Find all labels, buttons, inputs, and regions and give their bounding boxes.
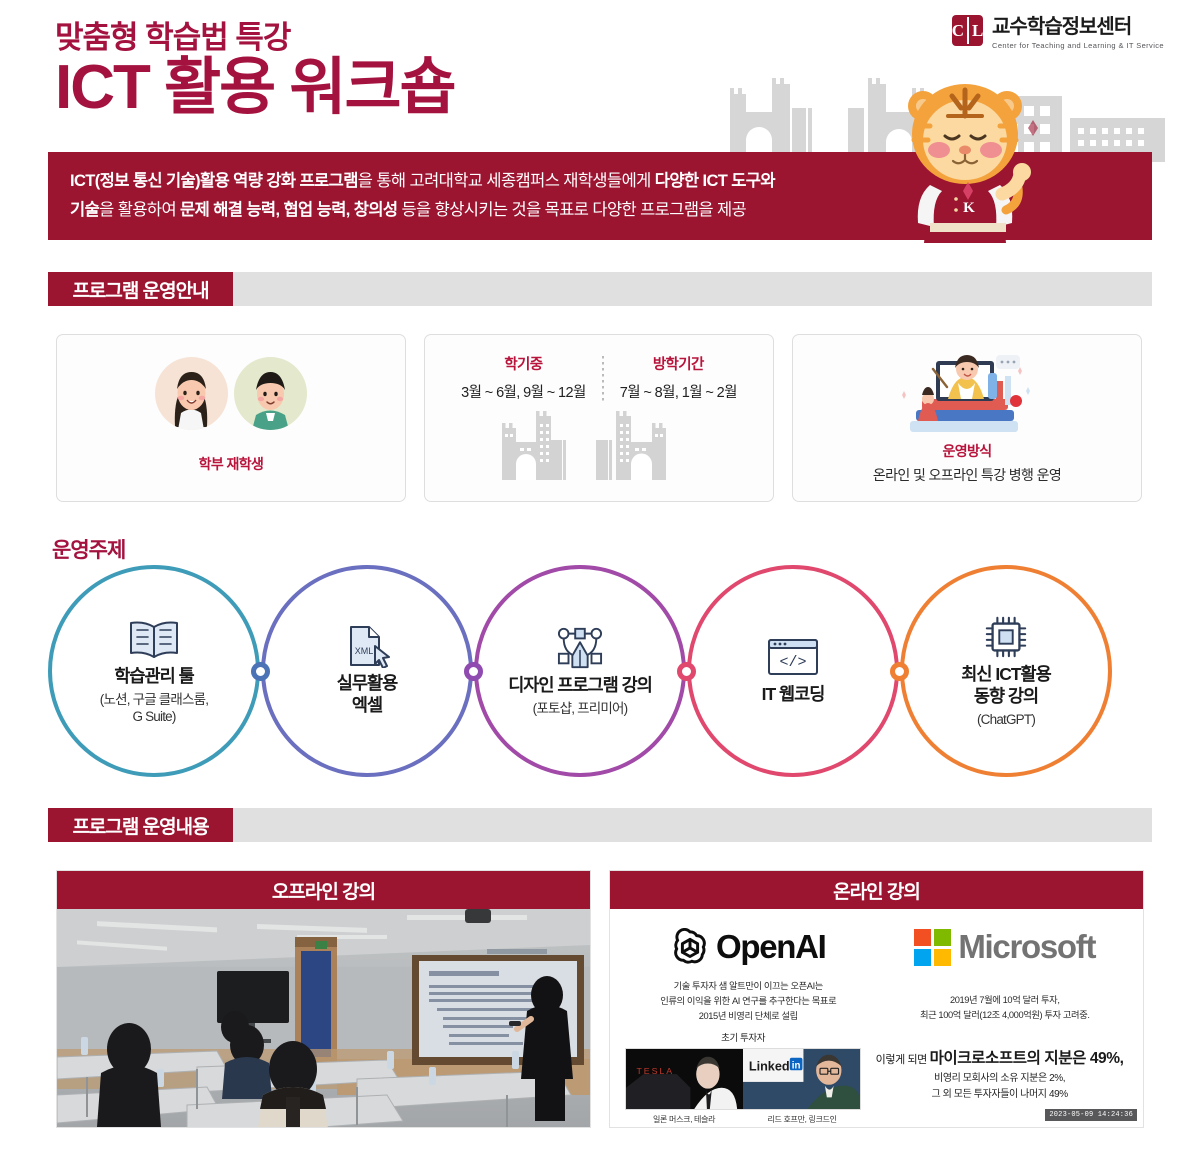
svg-text:</>: </>: [779, 654, 806, 671]
term-vacation: 방학기간 7월 ~ 8월, 1월 ~ 2월: [604, 353, 753, 402]
logo-letter-l: L: [972, 22, 983, 39]
svg-text:in: in: [792, 1060, 801, 1071]
investor-heading: 초기 투자자: [625, 1030, 861, 1044]
card-target-caption: 학부 재학생: [57, 454, 405, 474]
panel-online-header: 온라인 강의: [610, 871, 1143, 909]
panel-offline-header: 오프라인 강의: [57, 871, 590, 909]
banner-text-3: 등을 향상시키는 것을 목표로 다양한 프로그램을 제공: [397, 201, 746, 219]
topic-title-3: 디자인 프로그램 강의: [508, 675, 652, 697]
topic-title-4: IT 웹코딩: [762, 684, 825, 706]
investor-captions: 일론 머스크, 테슬라 리드 호프만, 링크드인: [625, 1114, 861, 1125]
logo-text: 교수학습정보센터 Center for Teaching and Learnin…: [992, 10, 1164, 50]
openai-block: OpenAI 기술 투자자 샘 알트만이 이끄는 오픈AI는 인류의 이익을 위…: [625, 923, 871, 1024]
topic-sub-1: (노션, 구글 클래스룸, G Suite): [100, 691, 208, 726]
svg-text:XML: XML: [355, 646, 374, 656]
topic-circle-ict-trends[interactable]: 최신 ICT활용 동향 강의 (ChatGPT): [900, 565, 1112, 777]
banner-emph-4: 문제 해결 능력, 협업 능력, 창의성: [180, 201, 397, 219]
card-mode-caption-highlight: 운영방식: [793, 441, 1141, 461]
share-line-1: 이렇게 되면 마이크로소프트의 지분은 49%,: [871, 1046, 1128, 1068]
logo-spine: [967, 17, 969, 44]
section-tag-program-guide: 프로그램 운영안내: [48, 272, 233, 306]
panel-online-lecture: 온라인 강의 OpenAI 기술 투자자 샘 알트만이 이끄는 오픈AI는 인류…: [609, 870, 1144, 1128]
campus-gate-icon: [484, 410, 714, 480]
svg-text:Linked: Linked: [749, 1059, 790, 1073]
avatar-female-student: [155, 357, 228, 430]
microsoft-block: Microsoft 2019년 7월에 10억 달러 투자, 최근 100억 달…: [882, 923, 1128, 1023]
center-logo: C L 교수학습정보센터 Center for Teaching and Lea…: [952, 10, 1164, 50]
openai-logo: OpenAI: [625, 923, 871, 971]
topic-sub-5: (ChatGPT): [977, 711, 1035, 729]
tiger-mascot-icon: K: [890, 60, 1040, 245]
screenshot-timestamp: 2023-05-09 14:24:36: [1045, 1109, 1137, 1121]
card-mode-caption: 온라인 및 오프라인 특강 병행 운영: [793, 465, 1141, 485]
code-browser-icon: </>: [766, 634, 820, 680]
term-vacation-body: 7월 ~ 8월, 1월 ~ 2월: [620, 381, 737, 402]
card-term-schedule: 학기중 3월 ~ 6월, 9월 ~ 12월 방학기간 7월 ~ 8월, 1월 ~…: [424, 334, 774, 502]
term-semester-head: 학기중: [461, 353, 586, 374]
topic-circle-excel[interactable]: XML 실무활용 엑셀: [261, 565, 473, 777]
share-line-1-emph: 마이크로소프트의 지분은 49%,: [930, 1050, 1124, 1067]
openai-mark-icon: [671, 928, 709, 966]
topic-title-2: 실무활용 엑셀: [337, 673, 397, 717]
banner-emph-1: ICT(정보 통신 기술)활용 역량 강화 프로그램: [70, 172, 358, 190]
brand-row: OpenAI 기술 투자자 샘 알트만이 이끄는 오픈AI는 인류의 이익을 위…: [610, 909, 1143, 1024]
connector-node-2: [464, 662, 483, 681]
microsoft-wordmark: Microsoft: [958, 928, 1095, 966]
section-title-topics: 운영주제: [52, 534, 125, 564]
logo-name-ko: 교수학습정보센터: [992, 10, 1164, 39]
topic-circle-learning-tools[interactable]: 학습관리 툴 (노션, 구글 클래스룸, G Suite): [48, 565, 260, 777]
offline-classroom-photo: [57, 909, 590, 1127]
investor-photo-strip: TESLA Linked in: [625, 1048, 861, 1110]
section-bar-program-guide: 프로그램 운영안내: [48, 272, 1152, 306]
online-teaching-illustration: [892, 343, 1042, 441]
banner-text-2: 을 활용하여: [99, 201, 180, 219]
page-title: ICT 활용 워크숍: [55, 55, 455, 120]
open-book-icon: [128, 616, 180, 662]
microsoft-squares-icon: [914, 929, 951, 966]
connector-node-4: [890, 662, 909, 681]
connector-node-3: [677, 662, 696, 681]
topic-sub-3: (포토샵, 프리미어): [533, 700, 628, 718]
share-line-1-prefix: 이렇게 되면: [876, 1054, 930, 1066]
connector-node-1: [251, 662, 270, 681]
online-body: OpenAI 기술 투자자 샘 알트만이 이끄는 오픈AI는 인류의 이익을 위…: [610, 909, 1143, 1127]
investor-caption-1: 일론 머스크, 테슬라: [625, 1114, 743, 1125]
share-line-3: 그 외 모든 투자자들이 나머지 49%: [871, 1087, 1128, 1103]
term-vacation-head: 방학기간: [620, 353, 737, 374]
cl-logo-mark: C L: [952, 15, 983, 46]
microsoft-description: 2019년 7월에 10억 달러 투자, 최근 100억 달러(12조 4,00…: [882, 993, 1128, 1023]
share-block: 이렇게 되면 마이크로소프트의 지분은 49%, 비영리 모회사의 소유 지분은…: [871, 1030, 1128, 1103]
topic-circle-chain: 학습관리 툴 (노션, 구글 클래스룸, G Suite) XML 실무활용 엑…: [48, 565, 1152, 780]
term-semester: 학기중 3월 ~ 6월, 9월 ~ 12월: [445, 353, 602, 402]
microsoft-logo: Microsoft: [882, 923, 1128, 971]
share-line-2: 비영리 모회사의 소유 지분은 2%,: [871, 1071, 1128, 1087]
investor-photo-musk: TESLA: [626, 1049, 743, 1109]
logo-letter-c: C: [952, 22, 964, 39]
banner-emph-3: 기술: [70, 201, 99, 219]
svg-text:TESLA: TESLA: [637, 1066, 675, 1076]
banner-text-1: 을 통해 고려대학교 세종캠퍼스 재학생들에게: [358, 172, 655, 190]
header-subtitle: 맞춤형 학습법 특강: [55, 12, 290, 57]
section-tag-program-content: 프로그램 운영내용: [48, 808, 233, 842]
card-target-audience: 학부 재학생: [56, 334, 406, 502]
banner-emph-2: 다양한 ICT 도구와: [655, 172, 775, 190]
logo-name-en: Center for Teaching and Learning & IT Se…: [992, 41, 1164, 50]
design-pen-node-icon: [555, 625, 605, 671]
xml-file-cursor-icon: XML: [341, 623, 393, 669]
topic-title-1: 학습관리 툴: [114, 666, 193, 688]
cpu-chip-icon: [983, 614, 1029, 660]
svg-text:K: K: [963, 200, 975, 216]
investor-photo-hoffman: Linked in: [743, 1049, 860, 1109]
topic-circle-design[interactable]: 디자인 프로그램 강의 (포토샵, 프리미어): [474, 565, 686, 777]
openai-wordmark: OpenAI: [716, 928, 826, 966]
avatar-male-student: [234, 357, 307, 430]
investor-caption-2: 리드 호프만, 링크드인: [743, 1114, 861, 1125]
card-delivery-mode: 운영방식 온라인 및 오프라인 특강 병행 운영: [792, 334, 1142, 502]
term-semester-body: 3월 ~ 6월, 9월 ~ 12월: [461, 381, 586, 402]
openai-description: 기술 투자자 샘 알트만이 이끄는 오픈AI는 인류의 이익을 위한 AI 연구…: [625, 979, 871, 1024]
topic-title-5: 최신 ICT활용 동향 강의: [961, 664, 1050, 708]
investor-block: 초기 투자자 TESLA: [625, 1030, 861, 1125]
topic-circle-webcoding[interactable]: </> IT 웹코딩: [687, 565, 899, 777]
page-header: 맞춤형 학습법 특강 ICT 활용 워크숍 C L 교수학습정보센터 Cente…: [0, 0, 1200, 260]
section-bar-program-content: 프로그램 운영내용: [48, 808, 1152, 842]
panel-offline-lecture: 오프라인 강의: [56, 870, 591, 1128]
